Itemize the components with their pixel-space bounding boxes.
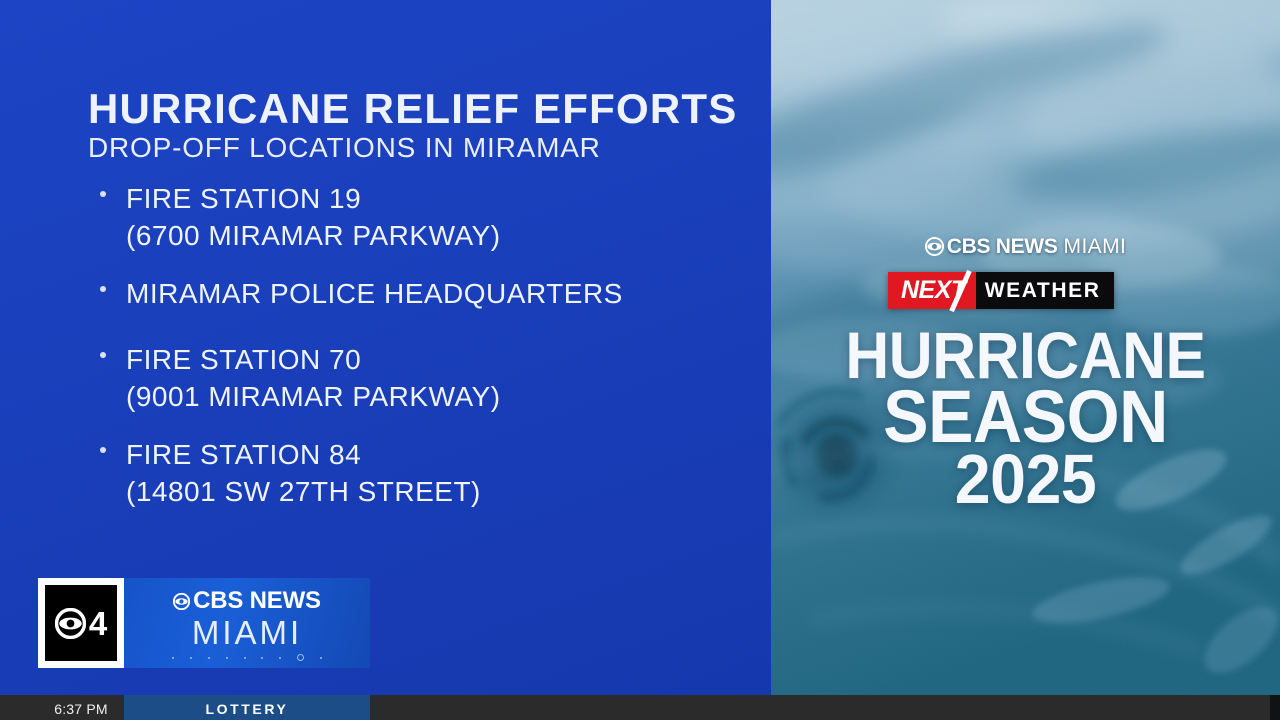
decorative-dot-row (172, 654, 322, 661)
cbs-eye-icon (173, 593, 190, 610)
cbs-eye-icon (925, 237, 944, 260)
cbs-news-wordmark: CBS NEWS (947, 235, 1058, 258)
cbs4-logo-inner: 4 (45, 585, 117, 661)
ticker-category-label: LOTTERY (124, 695, 370, 720)
list-item: MIRAMAR POLICE HEADQUARTERS (100, 275, 760, 312)
weather-label: WEATHER (985, 280, 1101, 301)
dot-icon (320, 657, 322, 659)
next-block: NEXT (888, 272, 976, 309)
ticker-bar: 6:37 PM LOTTERY (0, 695, 1270, 720)
cbs4-logo: 4 (38, 578, 124, 668)
list-item-name: MIRAMAR POLICE HEADQUARTERS (100, 275, 760, 312)
list-item: FIRE STATION 70 (9001 MIRAMAR PARKWAY) (100, 341, 760, 415)
dot-icon (244, 657, 246, 659)
dot-icon (261, 657, 263, 659)
station-bug: 4 CBS NEWS MIAMI (38, 578, 370, 668)
dot-icon (172, 657, 174, 659)
dropoff-location-list: FIRE STATION 19 (6700 MIRAMAR PARKWAY) M… (100, 180, 760, 532)
list-item-name: FIRE STATION 70 (100, 341, 760, 378)
bullet-dot-icon (100, 352, 106, 358)
clock-readout: 6:37 PM (38, 695, 124, 720)
bug-network-label: CBS NEWS (193, 589, 321, 613)
cbs-eye-icon (55, 608, 86, 639)
list-item: FIRE STATION 19 (6700 MIRAMAR PARKWAY) (100, 180, 760, 254)
list-item-address: (6700 MIRAMAR PARKWAY) (100, 217, 760, 254)
next-weather-logo: NEXT WEATHER (888, 272, 1114, 309)
broadcast-screen: HURRICANE RELIEF EFFORTS DROP-OFF LOCATI… (0, 0, 1280, 720)
weather-block: WEATHER (976, 272, 1114, 309)
page-title: HURRICANE RELIEF EFFORTS (88, 88, 758, 130)
bug-network-row: CBS NEWS (173, 589, 321, 613)
dot-icon (226, 657, 228, 659)
cbs-eye-glyph (173, 593, 190, 610)
dot-icon (190, 657, 192, 659)
hurricane-season-title: HURRICANE SEASON 2025 (771, 326, 1280, 511)
cbs-news-miami-brandmark: CBS NEWSMIAMI (771, 236, 1280, 260)
list-item-address: (9001 MIRAMAR PARKWAY) (100, 378, 760, 415)
channel-number: 4 (89, 607, 107, 640)
dot-icon (279, 657, 281, 659)
list-item-name: FIRE STATION 19 (100, 180, 760, 217)
station-name-panel: CBS NEWS MIAMI (124, 578, 370, 668)
list-item-address: (14801 SW 27TH STREET) (100, 473, 760, 510)
list-item: FIRE STATION 84 (14801 SW 27TH STREET) (100, 436, 760, 510)
ring-dot-icon (297, 654, 304, 661)
dot-icon (208, 657, 210, 659)
bullet-dot-icon (100, 191, 106, 197)
list-item-name: FIRE STATION 84 (100, 436, 760, 473)
bug-market-label: MIAMI (192, 616, 302, 649)
cbs-eye-glyph (925, 237, 944, 256)
page-subtitle: DROP-OFF LOCATIONS IN MIRAMAR (88, 134, 758, 162)
market-wordmark: MIAMI (1064, 235, 1127, 258)
title-line-3: 2025 (791, 449, 1259, 511)
